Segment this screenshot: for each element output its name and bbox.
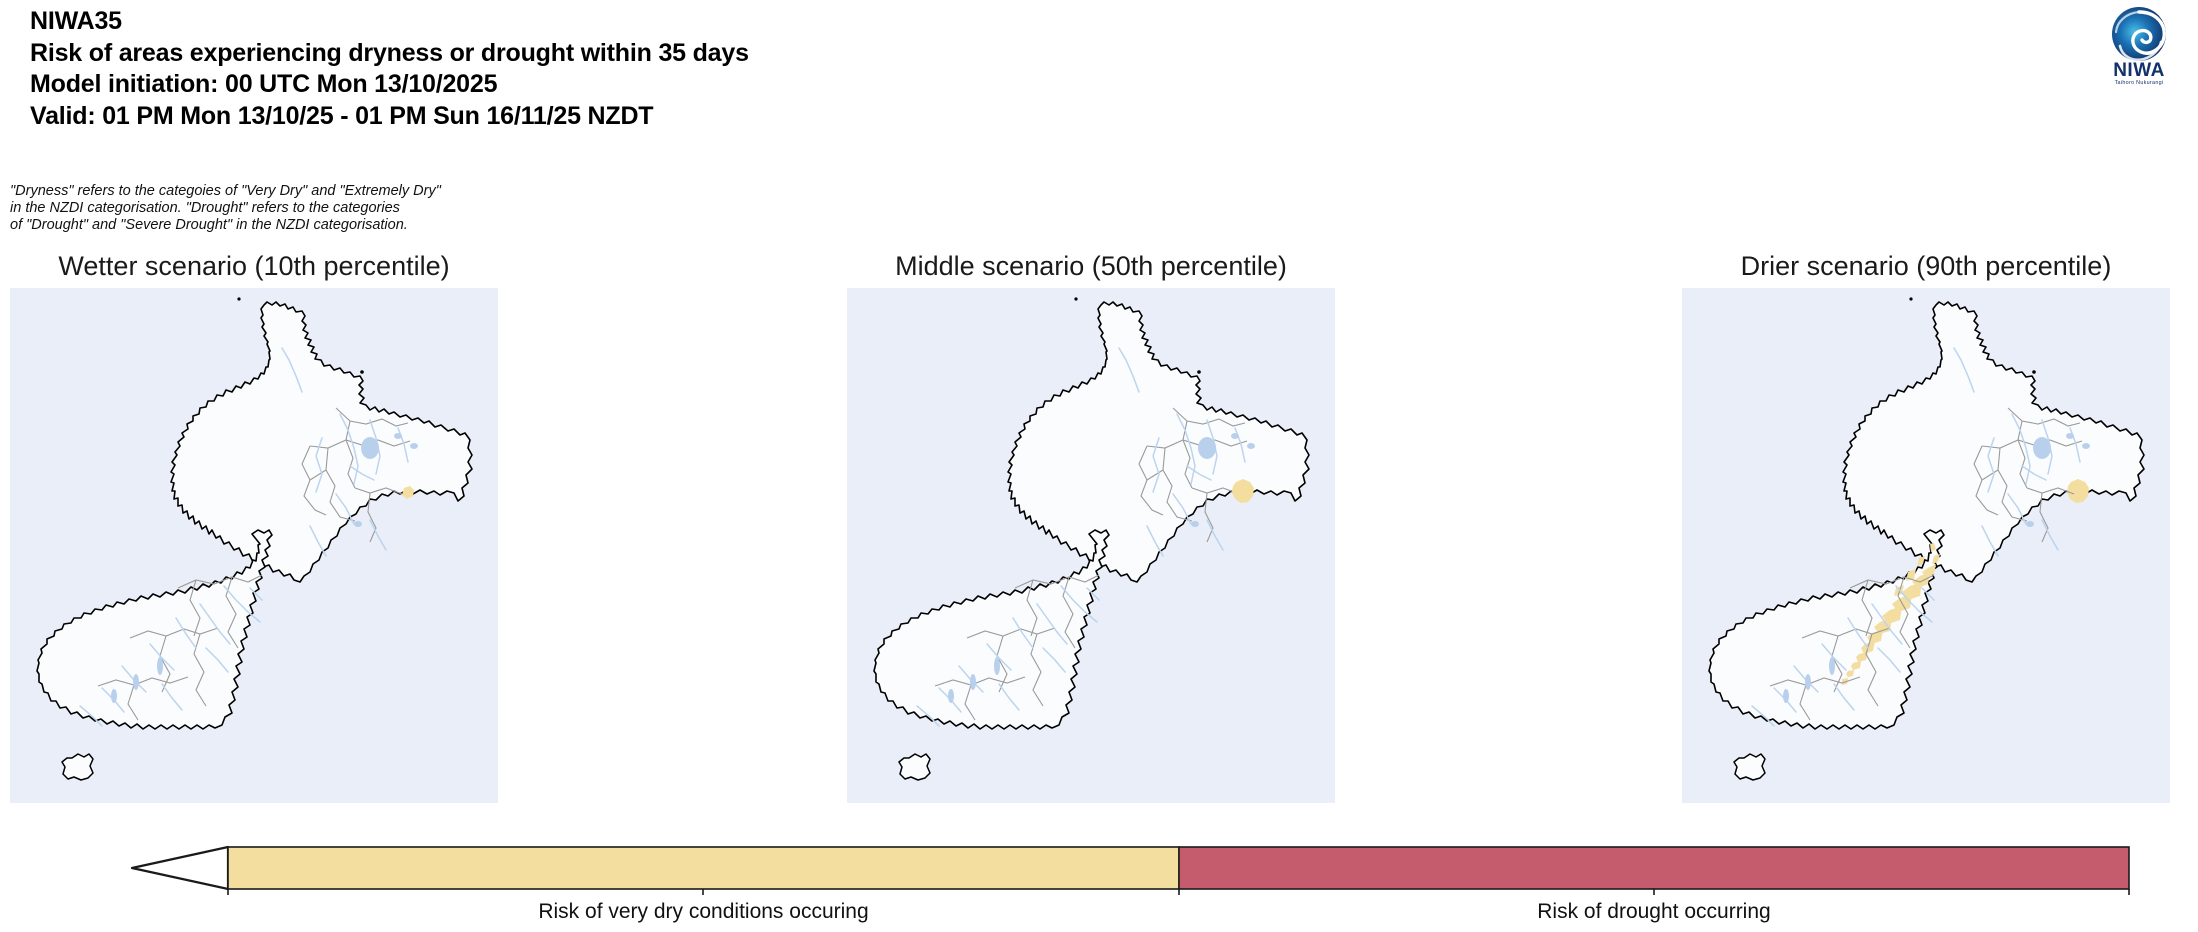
product-code: NIWA35 — [30, 6, 1430, 34]
header-block: NIWA35 Risk of areas experiencing drynes… — [30, 6, 1430, 128]
panel-title-wetter: Wetter scenario (10th percentile) — [10, 251, 498, 282]
map-canvas-middle[interactable] — [847, 288, 1335, 803]
colorbar-label-very-dry: Risk of very dry conditions occuring — [228, 900, 1179, 924]
colorbar-left-arrow — [132, 847, 228, 889]
panel-title-middle: Middle scenario (50th percentile) — [847, 251, 1335, 282]
footnote-line-3: of "Drought" and "Severe Drought" in the… — [10, 217, 710, 234]
niwa-wordmark: NIWA — [2113, 60, 2165, 81]
map-panel-middle: Middle scenario (50th percentile) — [847, 288, 1335, 803]
panel-title-drier: Drier scenario (90th percentile) — [1682, 251, 2170, 282]
niwa-logo-icon: NIWA Taihoro Nukurangi — [2096, 4, 2182, 86]
map-canvas-wetter[interactable] — [10, 288, 498, 803]
valid-period: Valid: 01 PM Mon 13/10/25 - 01 PM Sun 16… — [30, 97, 1430, 129]
footnote-line-1: "Dryness" refers to the categoies of "Ve… — [10, 183, 710, 200]
colorbar-label-drought: Risk of drought occurring — [1179, 900, 2129, 924]
niwa-tagline: Taihoro Nukurangi — [2115, 80, 2164, 86]
map-canvas-drier[interactable] — [1682, 288, 2170, 803]
footnote-line-2: in the NZDI categorisation. "Drought" re… — [10, 200, 710, 217]
model-initiation: Model initiation: 00 UTC Mon 13/10/2025 — [30, 65, 1430, 97]
map-panel-drier: Drier scenario (90th percentile) — [1682, 288, 2170, 803]
colorbar-ticks — [228, 889, 2129, 895]
new-zealand-map-drier — [1682, 288, 2170, 803]
niwa-logo: NIWA Taihoro Nukurangi — [2096, 4, 2182, 86]
colorbar-segment-drought — [1179, 847, 2129, 889]
page-title: Risk of areas experiencing dryness or dr… — [30, 34, 1430, 66]
footnote: "Dryness" refers to the categoies of "Ve… — [10, 183, 710, 234]
map-panel-wetter: Wetter scenario (10th percentile) — [10, 288, 498, 803]
new-zealand-map-wetter — [10, 288, 498, 803]
colorbar-segment-very-dry — [228, 847, 1179, 889]
new-zealand-map-middle — [847, 288, 1335, 803]
